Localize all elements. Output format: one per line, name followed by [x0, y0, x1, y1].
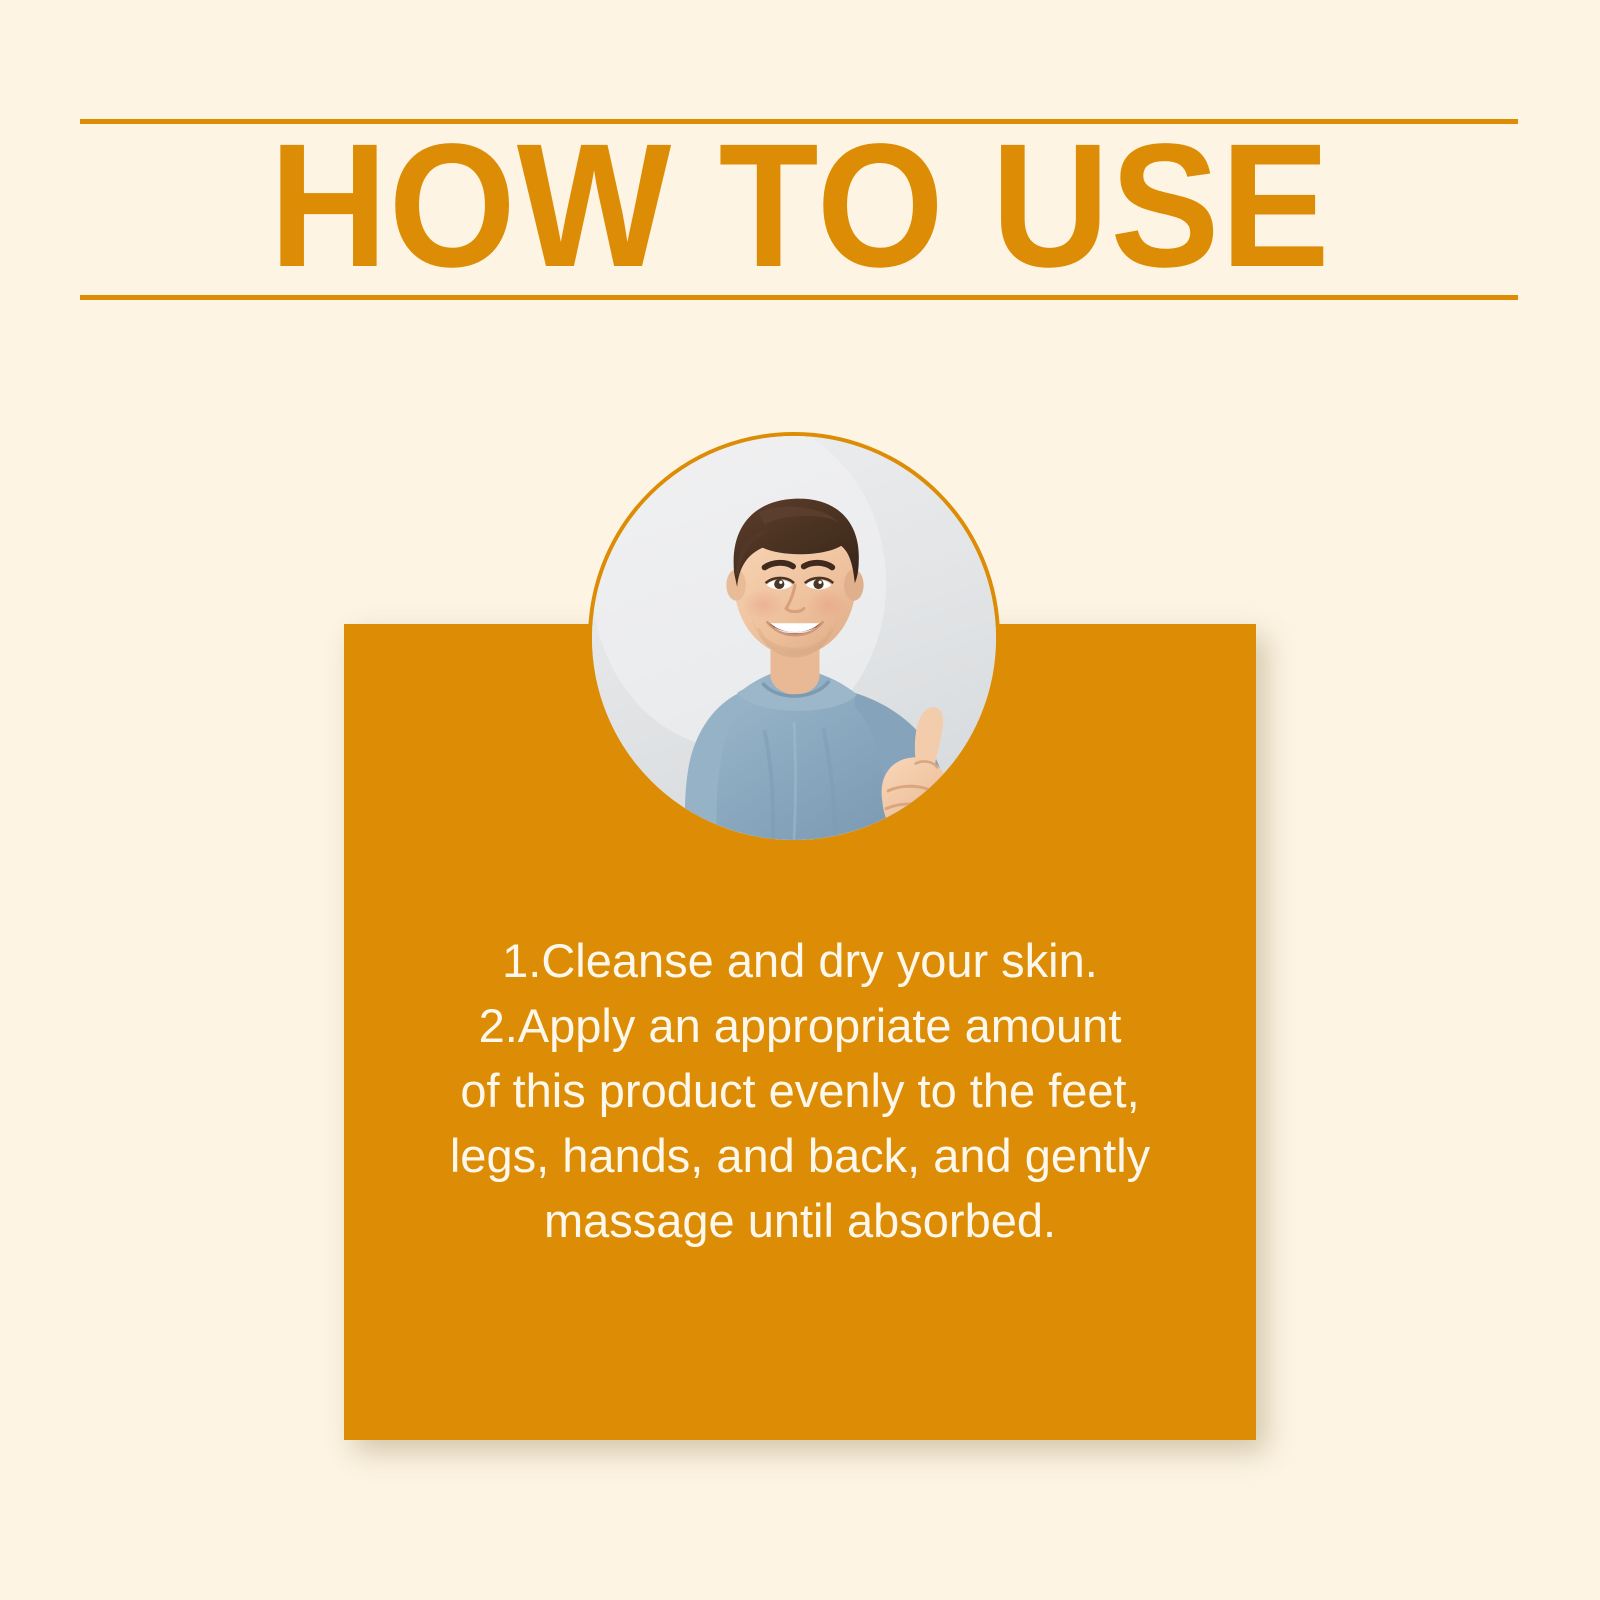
- instruction-line: 1.Cleanse and dry your skin.: [370, 928, 1230, 993]
- instruction-line: 2.Apply an appropriate amount: [370, 993, 1230, 1058]
- portrait-photo-smiling-man-thumbs-up: [592, 436, 996, 840]
- instruction-line: of this product evenly to the feet,: [370, 1058, 1230, 1123]
- instruction-line: massage until absorbed.: [370, 1188, 1230, 1253]
- instruction-line: legs, hands, and back, and gently: [370, 1123, 1230, 1188]
- poster-canvas: HOW TO USE: [0, 0, 1600, 1600]
- portrait-frame: [588, 432, 1000, 844]
- page-title: HOW TO USE: [56, 118, 1544, 294]
- instructions-text: 1.Cleanse and dry your skin. 2.Apply an …: [344, 928, 1256, 1253]
